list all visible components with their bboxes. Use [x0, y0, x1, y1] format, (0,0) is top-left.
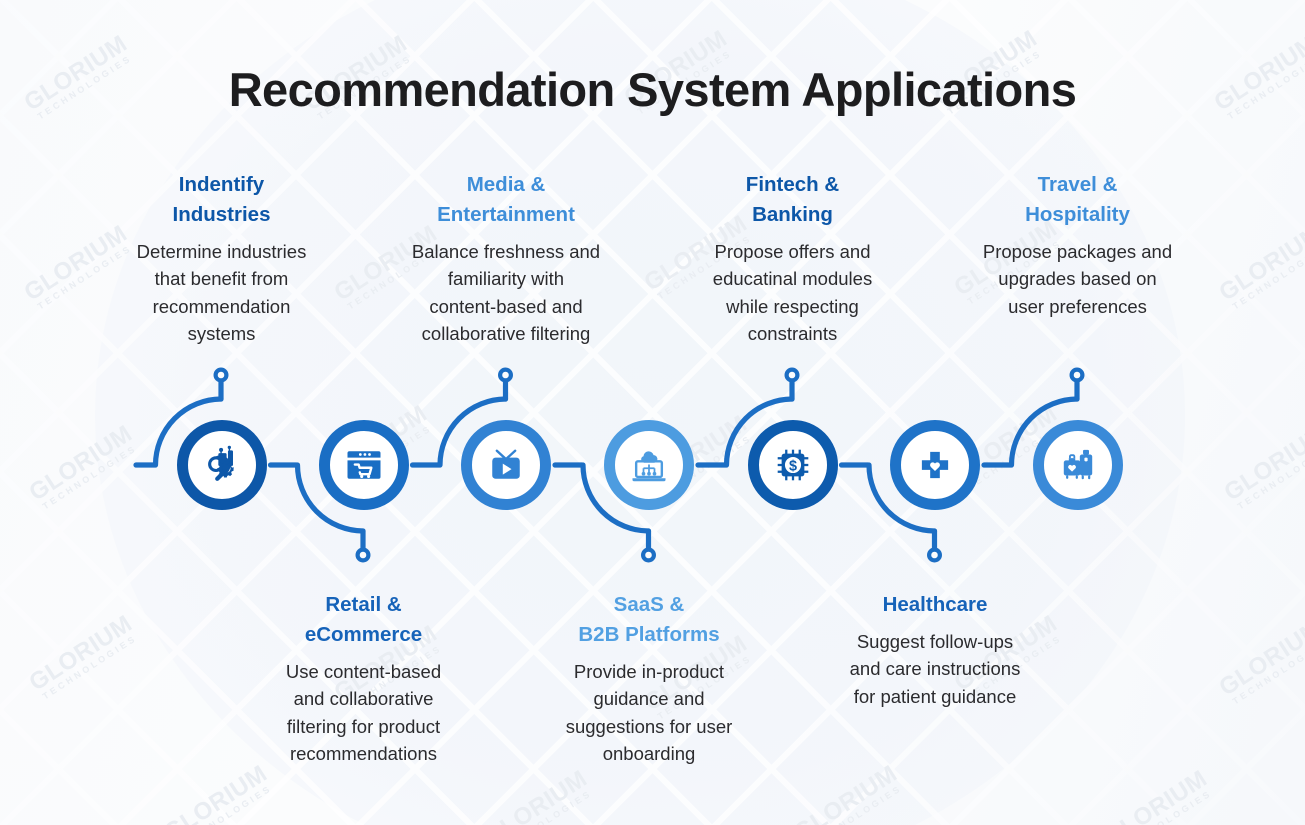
industry-search-gear-icon	[200, 443, 244, 487]
step-node-4[interactable]	[604, 420, 694, 510]
connector-endpoint-dot	[643, 550, 654, 561]
connector-endpoint-dot	[787, 370, 798, 381]
browser-shopping-cart-icon	[342, 443, 386, 487]
medical-cross-heart-icon	[914, 444, 956, 486]
luggage-icon	[1056, 443, 1100, 487]
connector-endpoint-dot	[1072, 370, 1083, 381]
step-node-1[interactable]	[177, 420, 267, 510]
connector-endpoint-dot	[500, 370, 511, 381]
step-node-5[interactable]: $	[748, 420, 838, 510]
tv-play-icon	[484, 443, 528, 487]
svg-text:$: $	[788, 458, 796, 474]
laptop-cloud-icon	[627, 443, 671, 487]
connector-endpoint-dot	[216, 370, 227, 381]
step-node-6[interactable]	[890, 420, 980, 510]
connector-rail	[0, 0, 1305, 825]
step-node-3[interactable]	[461, 420, 551, 510]
step-node-7[interactable]	[1033, 420, 1123, 510]
infographic-canvas: GLORIUMTECHNOLOGIESGLORIUMTECHNOLOGIESGL…	[0, 0, 1305, 825]
connector-endpoint-dot	[929, 550, 940, 561]
step-node-2[interactable]	[319, 420, 409, 510]
chip-dollar-icon: $	[772, 444, 814, 486]
connector-endpoint-dot	[358, 550, 369, 561]
